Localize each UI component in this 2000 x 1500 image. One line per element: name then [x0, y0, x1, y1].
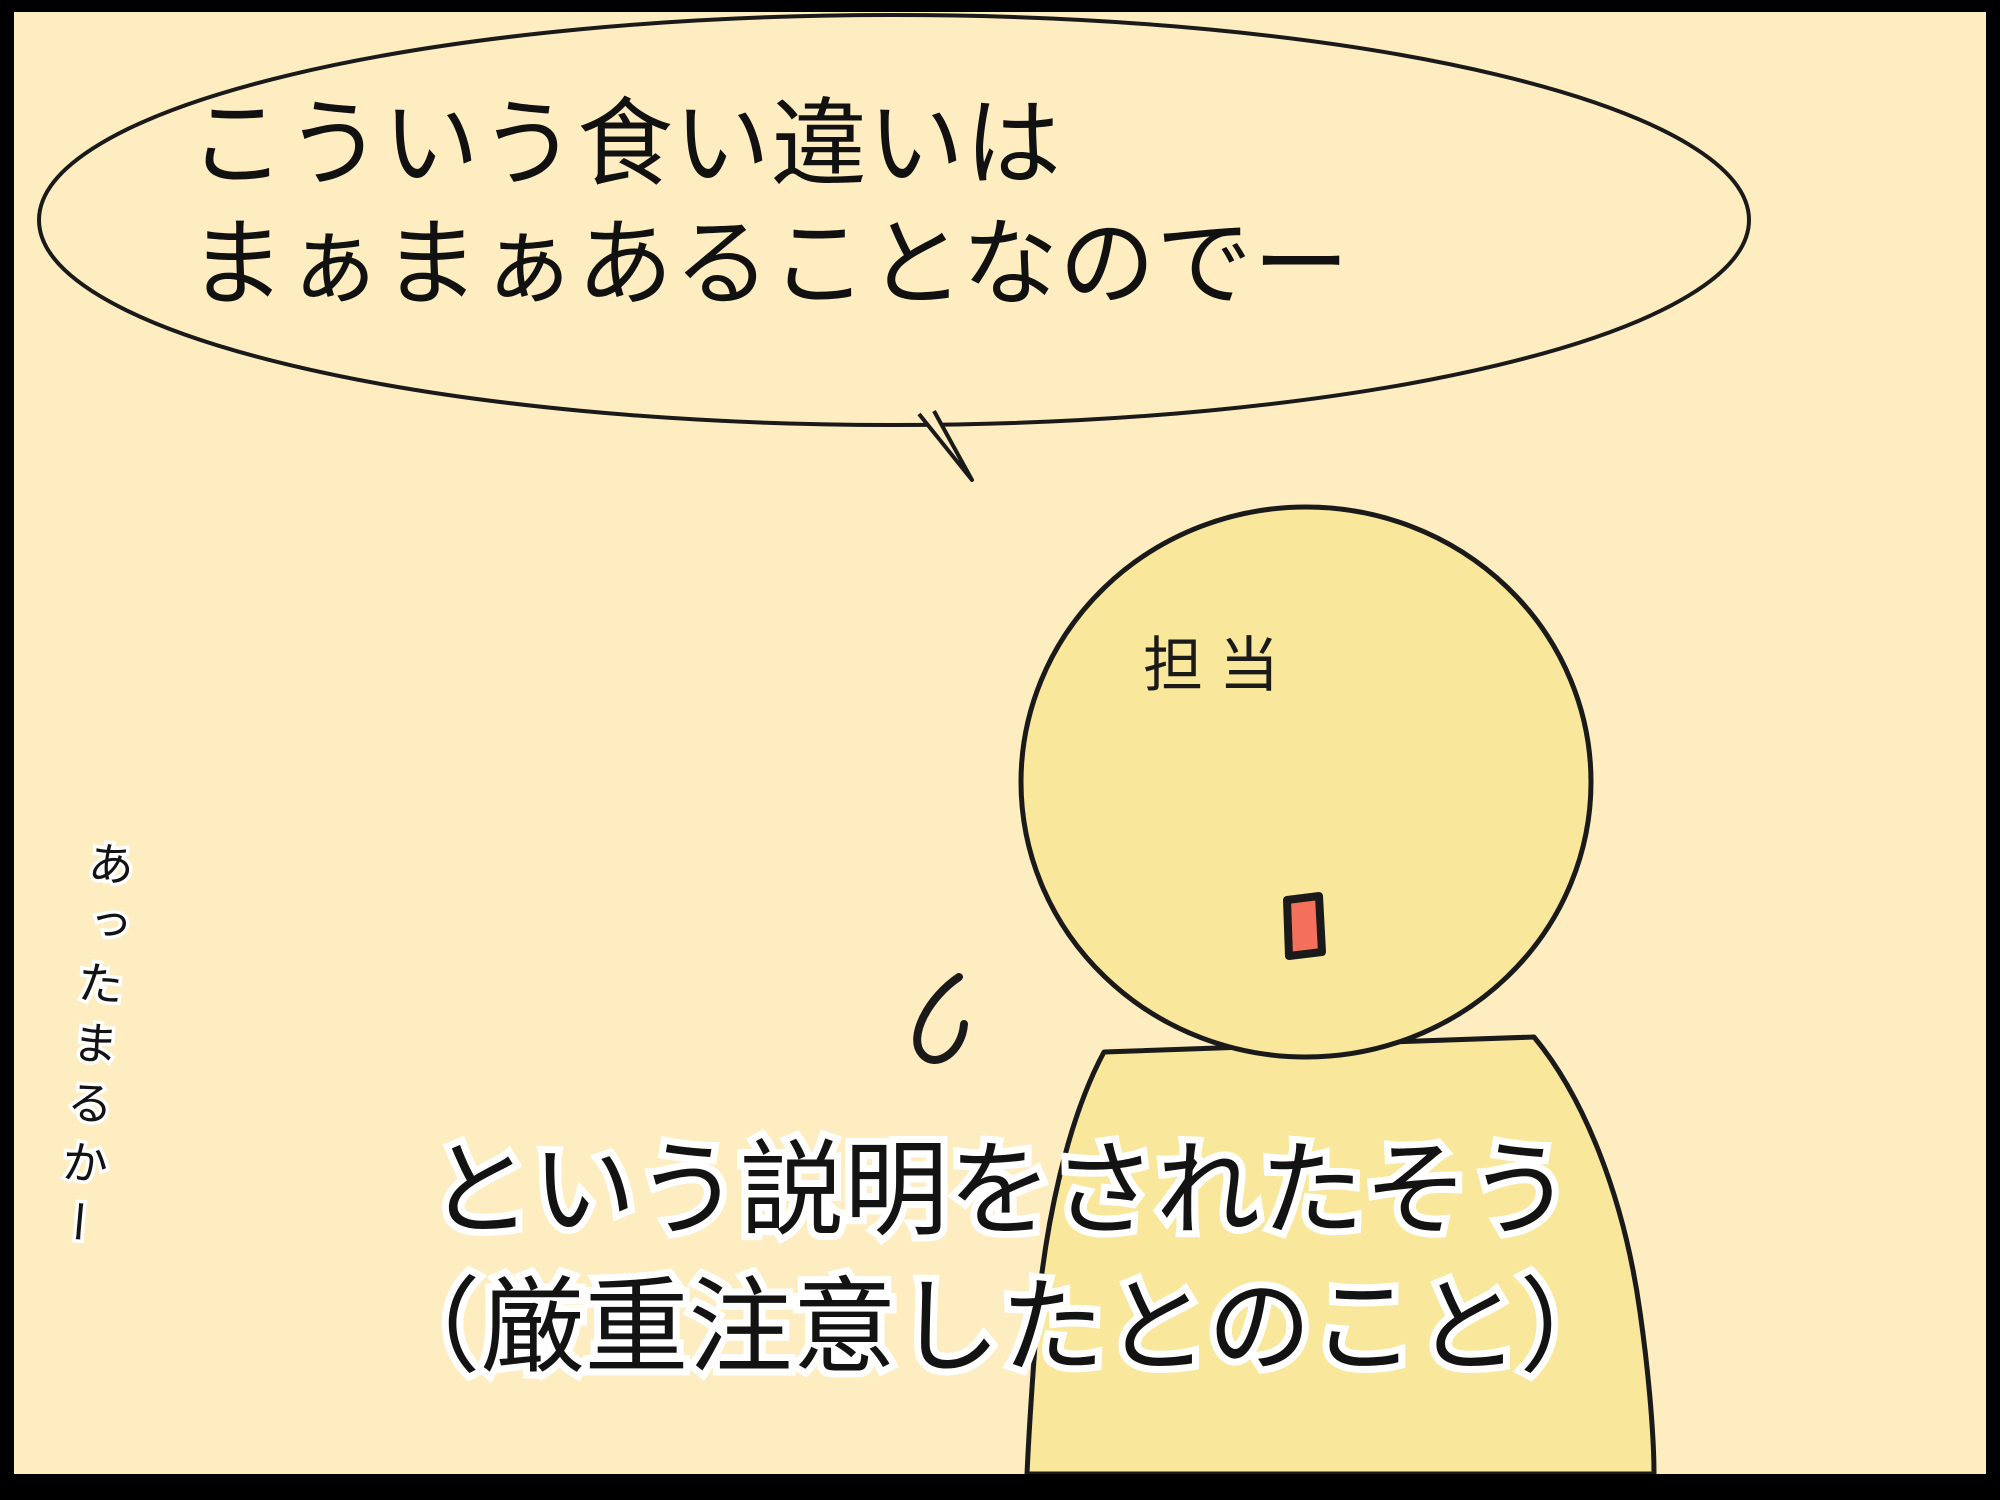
comic-panel: こういう食い違いは まぁまぁあることなのでー 担当 という説明をされたそう （厳…	[0, 0, 2000, 1500]
panel-caption: という説明をされたそう （厳重注意したとのこと）	[14, 1122, 1986, 1397]
panel-interior: こういう食い違いは まぁまぁあることなのでー 担当 という説明をされたそう （厳…	[14, 12, 1986, 1474]
gesture-mark-icon	[917, 977, 964, 1060]
character-mouth	[1287, 896, 1322, 956]
character-role-label: 担当	[1143, 617, 1295, 704]
speech-bubble-body	[39, 15, 1749, 425]
character-head	[1021, 507, 1591, 1057]
